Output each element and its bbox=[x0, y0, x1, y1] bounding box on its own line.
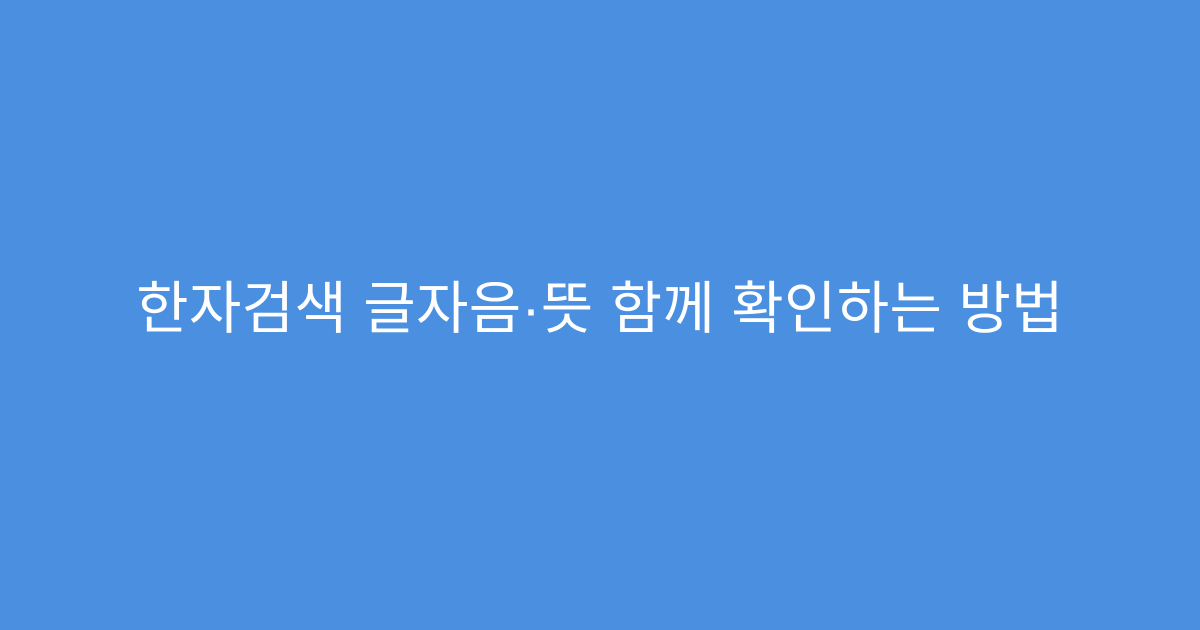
title-card: 한자검색 글자음·뜻 함께 확인하는 방법 bbox=[0, 0, 1200, 630]
title-block: 한자검색 글자음·뜻 함께 확인하는 방법 bbox=[0, 274, 1200, 345]
page-title: 한자검색 글자음·뜻 함께 확인하는 방법 bbox=[80, 274, 1120, 345]
